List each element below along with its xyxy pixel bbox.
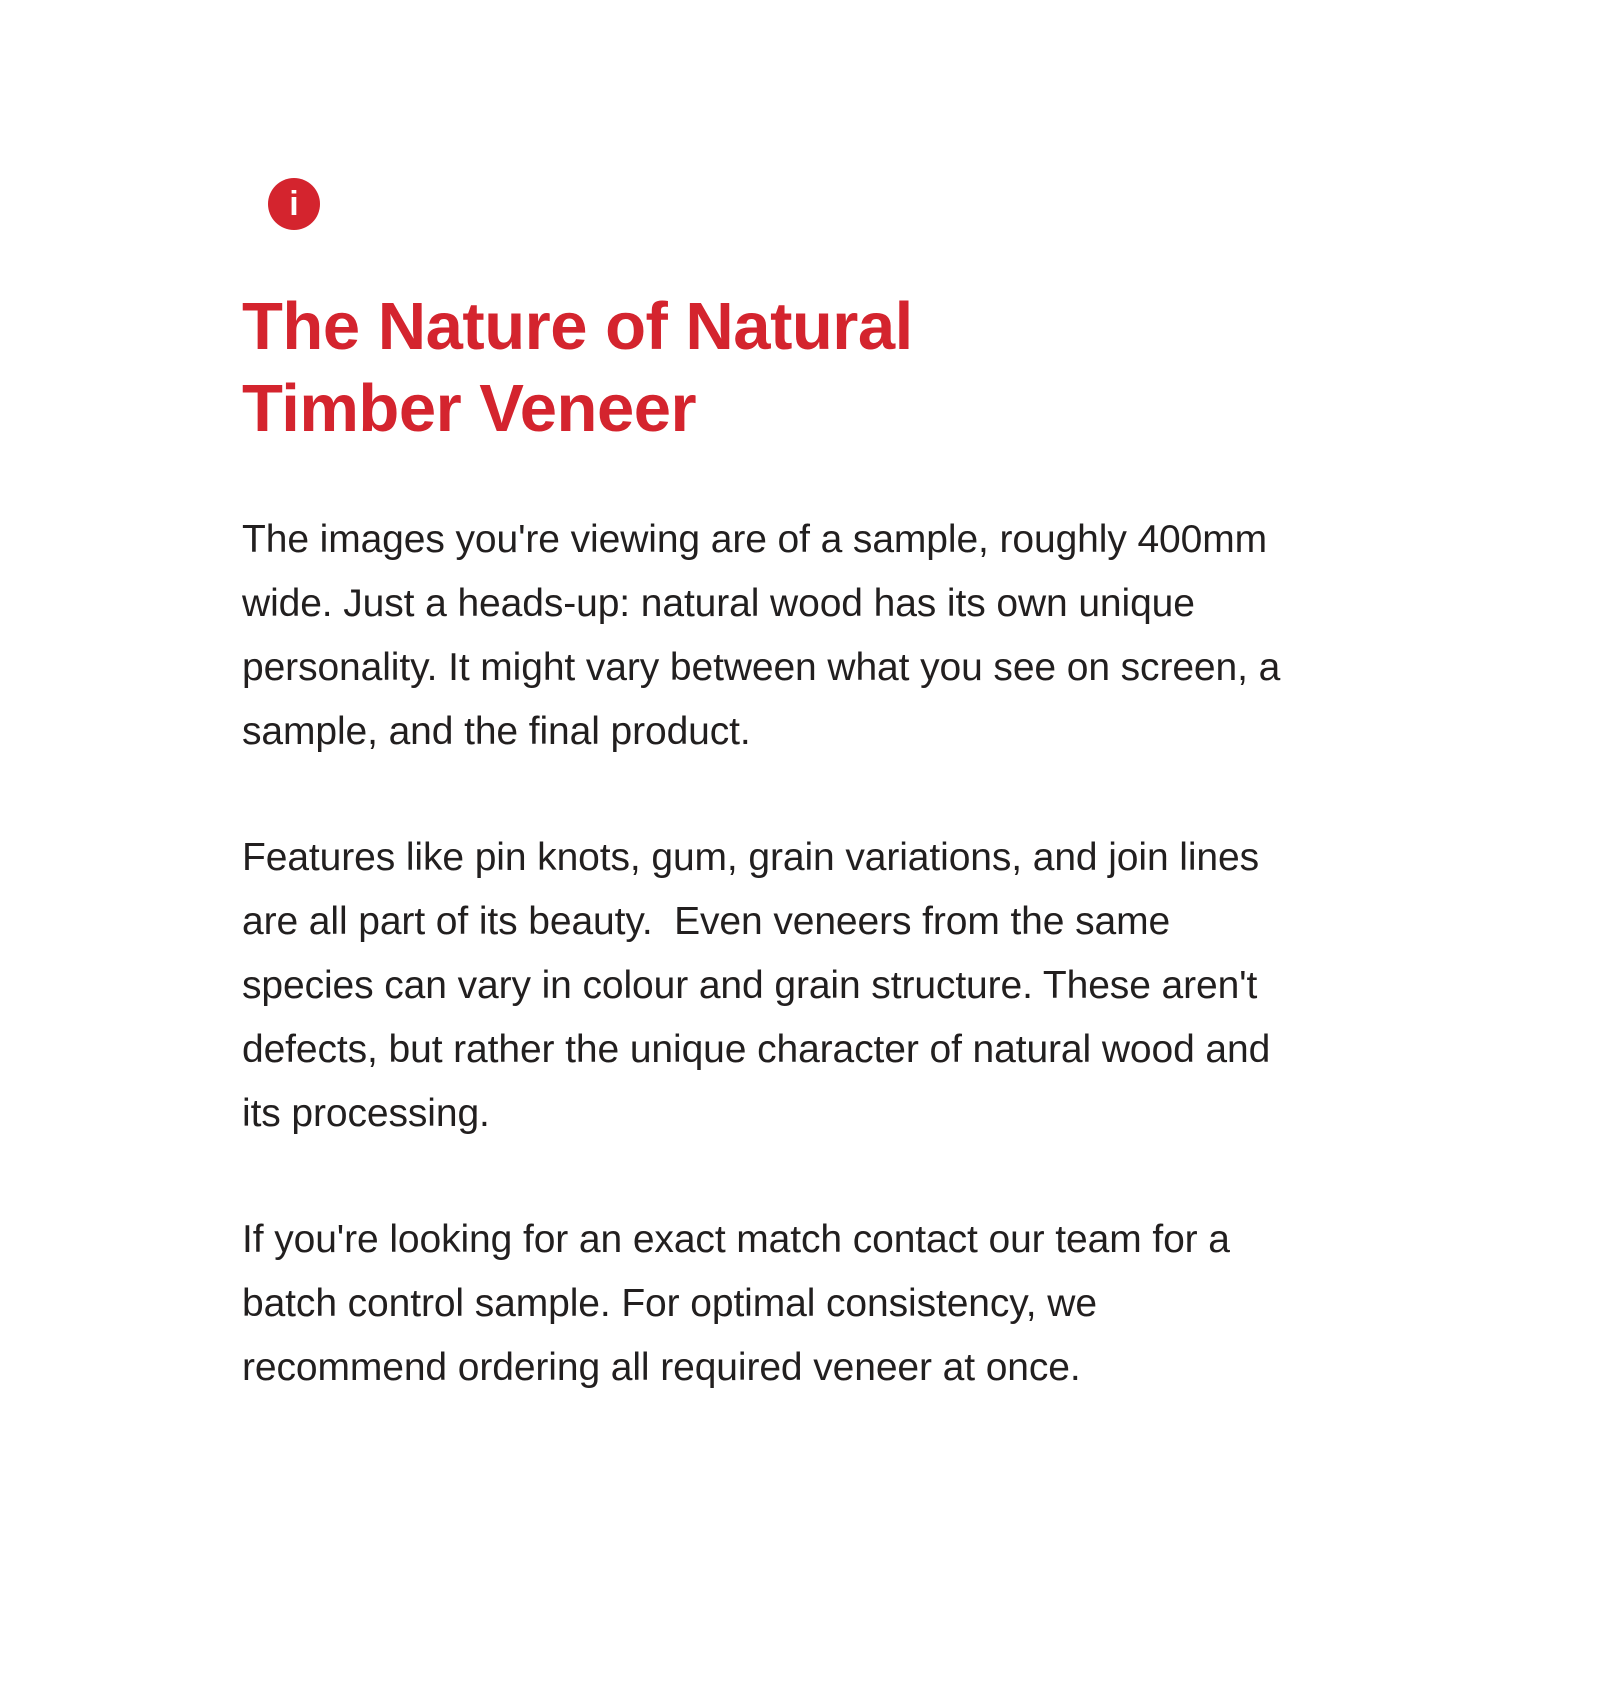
paragraph-sample-disclaimer: The images you're viewing are of a sampl… [242,508,1287,764]
body-copy: The images you're viewing are of a sampl… [242,508,1302,1400]
content-container: i The Nature of Natural Timber Veneer Th… [242,178,1302,1400]
paragraph-exact-match-advice: If you're looking for an exact match con… [242,1208,1287,1400]
page-title: The Nature of Natural Timber Veneer [242,286,1142,450]
info-panel: i The Nature of Natural Timber Veneer Th… [0,0,1620,1686]
info-icon-glyph: i [268,178,320,230]
info-icon: i [268,178,320,230]
paragraph-natural-features: Features like pin knots, gum, grain vari… [242,826,1287,1146]
